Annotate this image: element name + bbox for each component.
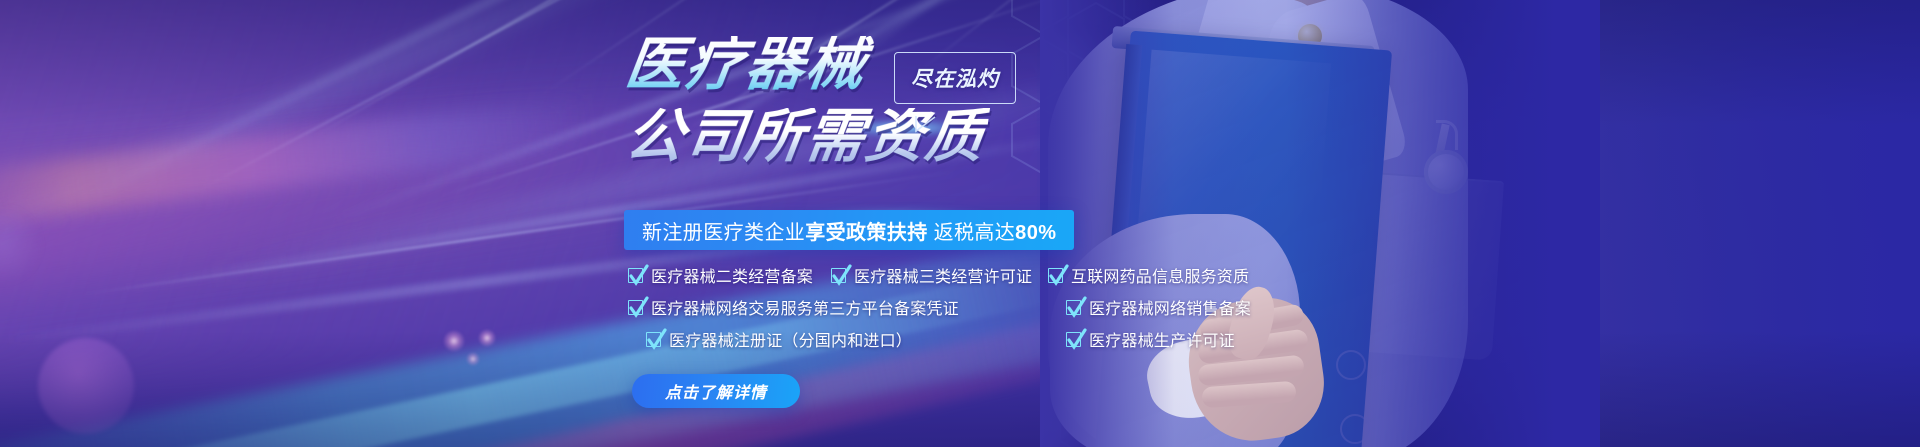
checkbox-checked-icon: [628, 300, 643, 315]
list-item[interactable]: 医疗器械网络销售备案: [1066, 296, 1251, 318]
checkbox-checked-icon: [1066, 300, 1081, 315]
list-item-label: 医疗器械网络交易服务第三方平台备案凭证: [651, 295, 959, 319]
subtitle-part-4: 80%: [1015, 222, 1056, 244]
checklist-row: 医疗器械二类经营备案 医疗器械三类经营许可证: [628, 264, 1048, 286]
checklist-left-column: 医疗器械二类经营备案 医疗器械三类经营许可证 医疗器械网络交易服务第三方平台备案…: [628, 264, 1048, 350]
tagline-speech-bubble: 尽在泓灼: [894, 52, 1016, 104]
medical-device-promo-banner: 医疗器械 公司所需资质 尽在泓灼 新注册医疗类企业享受政策扶持 返税高达80%: [0, 0, 1920, 447]
list-item-label: 医疗器械三类经营许可证: [854, 263, 1032, 287]
tagline-text: 尽在泓灼: [894, 52, 1016, 104]
checkbox-checked-icon: [1048, 268, 1063, 283]
banner-content: 医疗器械 公司所需资质 尽在泓灼 新注册医疗类企业享受政策扶持 返税高达80%: [0, 0, 1920, 447]
list-item[interactable]: 医疗器械三类经营许可证: [831, 264, 1032, 286]
checkbox-checked-icon: [1066, 332, 1081, 347]
qualification-checklist: 医疗器械二类经营备案 医疗器械三类经营许可证 医疗器械网络交易服务第三方平台备案…: [628, 264, 1251, 350]
checkbox-checked-icon: [831, 268, 846, 283]
checklist-right-column: 互联网药品信息服务资质 医疗器械网络销售备案 医疗器械生产许可证: [1048, 264, 1251, 350]
list-item-label: 医疗器械生产许可证: [1089, 327, 1235, 351]
learn-more-button[interactable]: 点击了解详情: [632, 374, 800, 408]
subtitle-bar: 新注册医疗类企业享受政策扶持 返税高达80%: [624, 210, 1074, 250]
list-item-label: 医疗器械网络销售备案: [1089, 295, 1251, 319]
list-item[interactable]: 医疗器械二类经营备案: [628, 264, 813, 286]
list-item[interactable]: 医疗器械网络交易服务第三方平台备案凭证: [628, 296, 1048, 318]
subtitle-text: 新注册医疗类企业享受政策扶持 返税高达80%: [642, 216, 1056, 245]
list-item-label: 医疗器械注册证（分国内和进口）: [669, 327, 912, 351]
checkbox-checked-icon: [628, 268, 643, 283]
list-item[interactable]: 医疗器械注册证（分国内和进口）: [646, 328, 1048, 350]
checkbox-checked-icon: [646, 332, 661, 347]
subtitle-part-3: 返税高达: [928, 222, 1016, 244]
list-item-label: 互联网药品信息服务资质: [1071, 263, 1249, 287]
speech-bubble-tail-icon: [916, 104, 917, 117]
subtitle-part-2: 享受政策扶持: [805, 222, 927, 244]
list-item[interactable]: 互联网药品信息服务资质: [1048, 264, 1251, 286]
list-item-label: 医疗器械二类经营备案: [651, 263, 813, 287]
subtitle-part-1: 新注册医疗类企业: [642, 222, 805, 244]
list-item[interactable]: 医疗器械生产许可证: [1066, 328, 1251, 350]
